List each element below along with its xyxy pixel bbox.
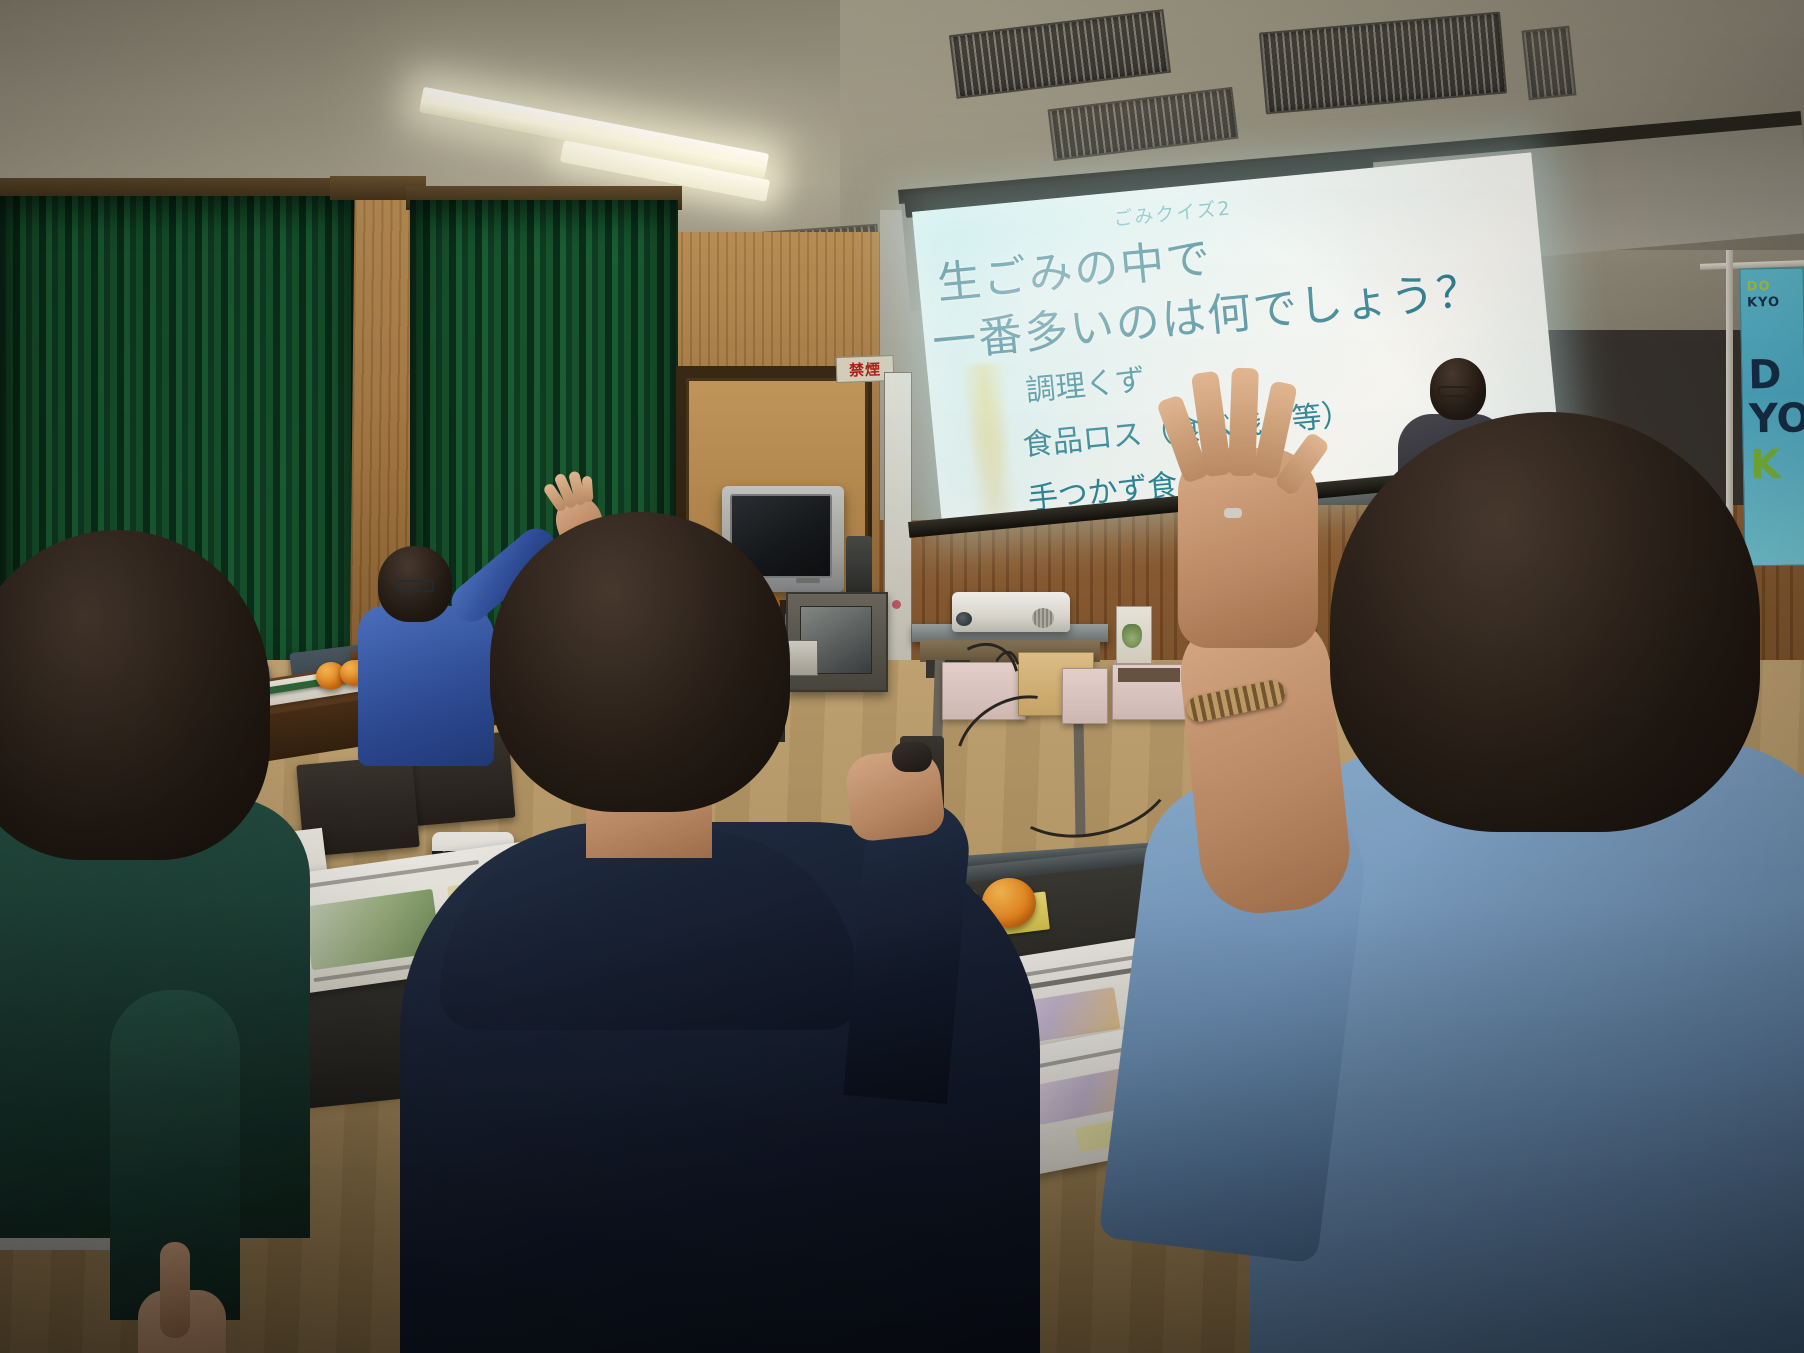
- participant-forearm: [1175, 605, 1356, 919]
- finger-ring: [1224, 508, 1242, 518]
- air-vent-icon: [1521, 26, 1576, 101]
- held-object: [892, 742, 932, 772]
- participant-raised-open-hand: [1178, 448, 1318, 648]
- floor-shadow-overlay: [0, 900, 1804, 1353]
- banner-big-letter-1: D: [1748, 357, 1782, 394]
- banner-text-line-2: KYO: [1747, 295, 1780, 311]
- slide-illustration: [955, 361, 1023, 515]
- room-photo-scene: 禁煙 ごみクイズ2 生ごみの中で 一番多いのは何でしょう？ 調理くず 食品ロス（…: [0, 0, 1804, 1353]
- participant-head: [0, 530, 270, 860]
- banner-text-line-1: DO: [1747, 279, 1771, 294]
- eyeglasses-icon: [1438, 386, 1472, 397]
- participant-head: [490, 512, 790, 812]
- slide-option-1: 調理くず: [1023, 355, 1147, 410]
- participant-head: [1330, 412, 1760, 832]
